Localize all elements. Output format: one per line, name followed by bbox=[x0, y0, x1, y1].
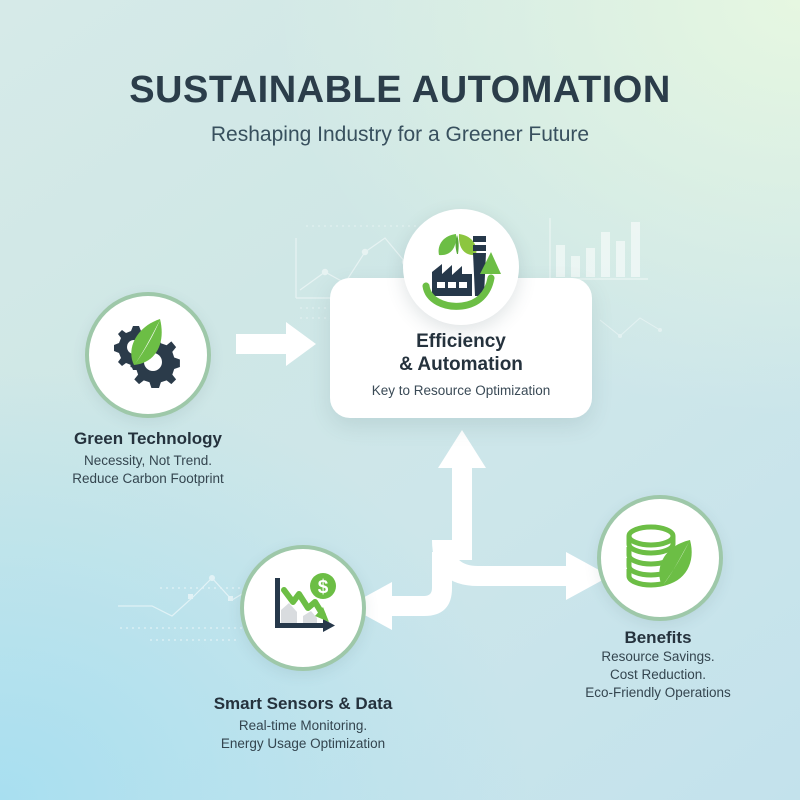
center-card-title-line1: Efficiency bbox=[416, 331, 506, 352]
infographic-poster: SUSTAINABLE AUTOMATION Reshaping Industr… bbox=[0, 0, 800, 800]
node-benefits-desc-line3: Eco-Friendly Operations bbox=[585, 685, 731, 700]
center-card-title-line2: & Automation bbox=[399, 354, 523, 375]
node-smart-sensors-data-desc: Real-time Monitoring. Energy Usage Optim… bbox=[175, 717, 431, 753]
node-benefits-desc-line1: Resource Savings. bbox=[601, 649, 714, 664]
leaf-gear-icon bbox=[108, 315, 188, 395]
node-smart-sensors-data-title: Smart Sensors & Data bbox=[175, 693, 431, 714]
center-card-title: Efficiency & Automation bbox=[330, 330, 592, 376]
dots-watermark-right bbox=[600, 318, 662, 338]
center-card-subtitle: Key to Resource Optimization bbox=[330, 383, 592, 398]
node-green-technology-label: Green Technology Necessity, Not Trend. R… bbox=[20, 428, 276, 488]
page-title: SUSTAINABLE AUTOMATION bbox=[0, 70, 800, 112]
bar-chart-watermark-top-right bbox=[550, 218, 648, 279]
arrow-right-icon bbox=[236, 322, 316, 366]
node-green-technology-desc-line1: Necessity, Not Trend. bbox=[84, 453, 212, 468]
node-smart-sensors-data-desc-line2: Energy Usage Optimization bbox=[221, 736, 385, 751]
factory-leaf-arrow-icon bbox=[418, 224, 504, 310]
line-chart-watermark-bottom-left bbox=[118, 570, 258, 640]
node-benefits-desc: Resource Savings. Cost Reduction. Eco-Fr… bbox=[545, 648, 771, 701]
node-green-technology-desc-line2: Reduce Carbon Footprint bbox=[72, 471, 224, 486]
node-benefits-title: Benefits bbox=[545, 627, 771, 648]
center-card-text: Efficiency & Automation Key to Resource … bbox=[330, 330, 592, 398]
branching-arrow-icon bbox=[338, 424, 610, 658]
node-benefits-label: Benefits Resource Savings. Cost Reductio… bbox=[545, 627, 771, 702]
header: SUSTAINABLE AUTOMATION Reshaping Industr… bbox=[0, 70, 800, 147]
node-smart-sensors-data-label: Smart Sensors & Data Real-time Monitorin… bbox=[175, 693, 431, 753]
node-green-technology-desc: Necessity, Not Trend. Reduce Carbon Foot… bbox=[20, 452, 276, 488]
coins-leaf-icon bbox=[620, 518, 700, 598]
svg-text:$: $ bbox=[318, 577, 329, 598]
node-benefits-desc-line2: Cost Reduction. bbox=[610, 667, 706, 682]
node-green-technology-title: Green Technology bbox=[20, 428, 276, 449]
declining-chart-dollar-icon: $ bbox=[263, 568, 343, 648]
node-smart-sensors-data-desc-line1: Real-time Monitoring. bbox=[239, 718, 367, 733]
page-subtitle: Reshaping Industry for a Greener Future bbox=[0, 122, 800, 147]
